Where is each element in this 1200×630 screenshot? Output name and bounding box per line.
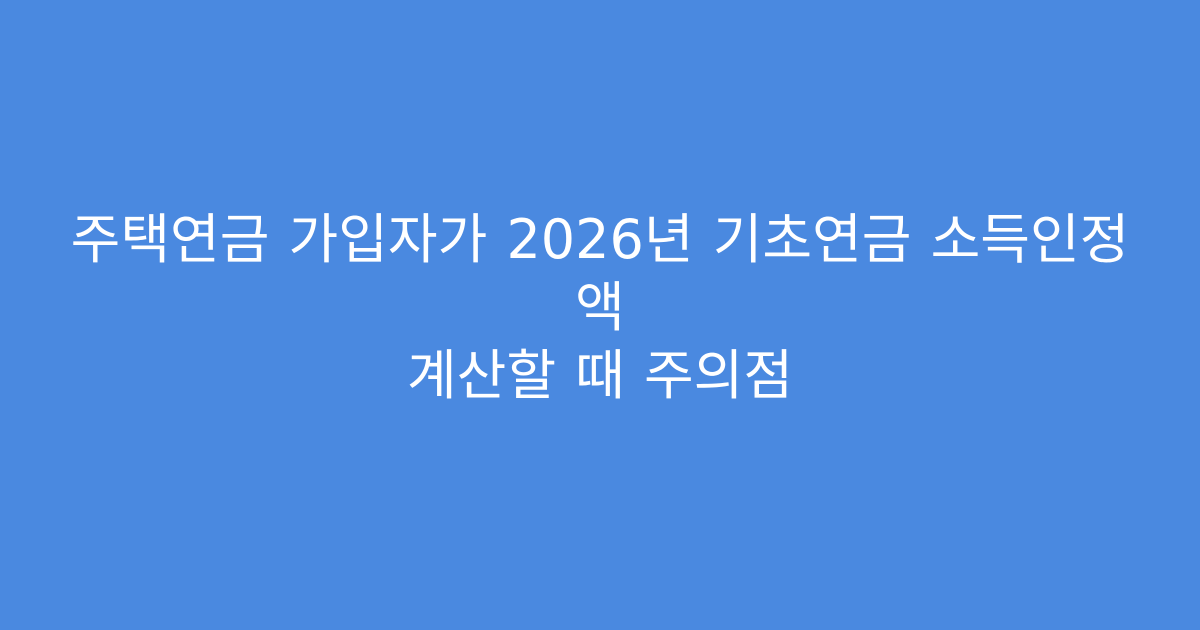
page-title-line-1: 주택연금 가입자가 2026년 기초연금 소득인정액	[70, 206, 1130, 342]
page-title-line-2: 계산할 때 주의점	[70, 342, 1130, 410]
page-title: 주택연금 가입자가 2026년 기초연금 소득인정액 계산할 때 주의점	[70, 206, 1130, 410]
headline-block: 주택연금 가입자가 2026년 기초연금 소득인정액 계산할 때 주의점	[70, 206, 1130, 410]
og-thumbnail-card: 주택연금 가입자가 2026년 기초연금 소득인정액 계산할 때 주의점	[0, 0, 1200, 630]
